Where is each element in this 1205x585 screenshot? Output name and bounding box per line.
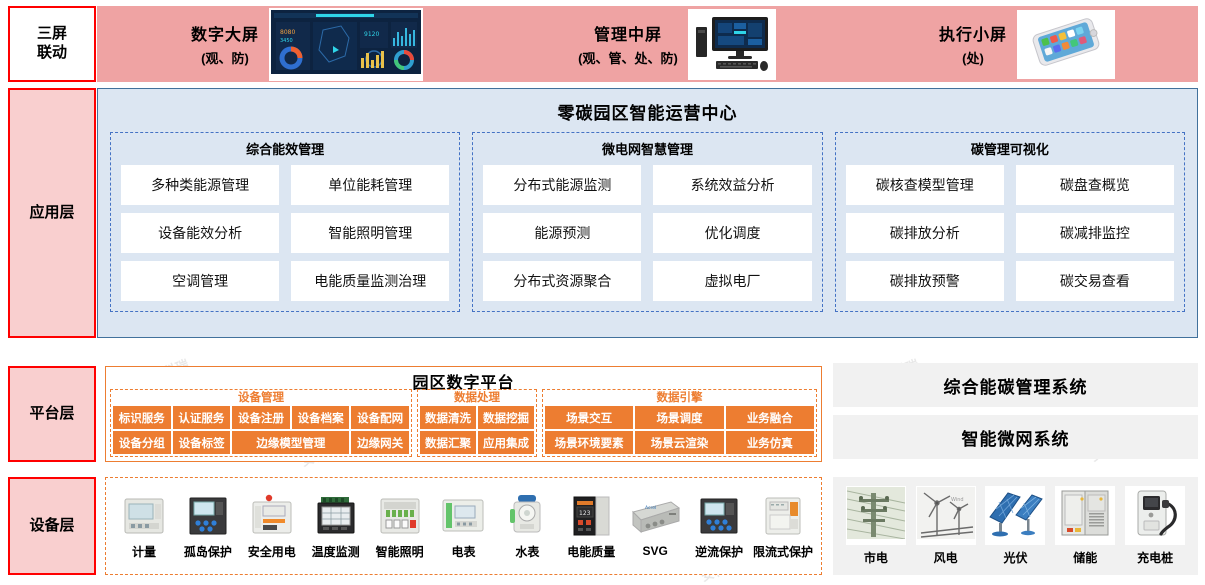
- electric-meter-icon: [438, 493, 488, 539]
- app-cell[interactable]: 优化调度: [653, 213, 811, 253]
- platform-row: 设备分组 设备标签 边缘模型管理 边缘网关: [113, 431, 409, 454]
- app-cell[interactable]: 智能照明管理: [291, 213, 449, 253]
- source-item[interactable]: Wind 风电: [915, 486, 977, 566]
- screen-caption: 管理中屏 (观、管、处、防): [578, 21, 678, 67]
- source-item[interactable]: 市电: [845, 486, 907, 566]
- source-label: 风电: [934, 549, 958, 566]
- platform-group-title: 数据引擎: [545, 391, 814, 406]
- app-cell[interactable]: 碳盘查概览: [1016, 165, 1174, 205]
- app-cell[interactable]: 分布式资源聚合: [483, 261, 641, 301]
- protection-relay-icon: [183, 493, 233, 539]
- app-group-microgrid: 微电网智慧管理 分布式能源监测 系统效益分析 能源预测 优化调度 分布式资源聚合…: [472, 132, 822, 312]
- application-center-title: 零碳园区智能运营中心: [98, 89, 1197, 124]
- device-item[interactable]: 计量: [113, 493, 175, 560]
- platform-row: 数据清洗 数据挖掘: [420, 406, 534, 429]
- platform-chip[interactable]: 场景交互: [545, 406, 633, 429]
- rail-platform-layer: 平台层: [8, 366, 96, 462]
- source-label: 充电桩: [1137, 549, 1173, 566]
- device-label: 电能质量: [567, 543, 615, 560]
- application-groups: 综合能效管理 多种类能源管理 单位能耗管理 设备能效分析 智能照明管理 空调管理…: [98, 124, 1197, 322]
- smartphone-icon: [1017, 10, 1115, 79]
- system-box-carbon-energy[interactable]: 综合能碳管理系统: [833, 363, 1198, 407]
- source-label: 储能: [1073, 549, 1097, 566]
- source-label: 光伏: [1003, 549, 1027, 566]
- platform-group-data-engine: 数据引擎 场景交互 场景调度 业务融合 场景环境要素 场景云渲染 业务仿真: [542, 389, 817, 457]
- rail-label: 应用层: [29, 204, 74, 223]
- screen-caption: 执行小屏 (处): [939, 21, 1007, 67]
- reverse-flow-protection-icon: [694, 493, 744, 539]
- platform-chip[interactable]: 数据清洗: [420, 406, 476, 429]
- source-item[interactable]: 充电桩: [1124, 486, 1186, 566]
- application-layer-panel: 零碳园区智能运营中心 综合能效管理 多种类能源管理 单位能耗管理 设备能效分析 …: [97, 88, 1198, 338]
- platform-chip[interactable]: 标识服务: [113, 406, 171, 429]
- platform-chip[interactable]: 设备档案: [292, 406, 350, 429]
- source-item[interactable]: 储能: [1054, 486, 1116, 566]
- screen-subtitle: (观、防): [191, 48, 259, 67]
- energy-source-panel: 市电: [833, 477, 1198, 575]
- rail-label: 设备层: [29, 517, 74, 536]
- platform-chip[interactable]: 业务融合: [726, 406, 814, 429]
- platform-chip[interactable]: 业务仿真: [726, 431, 814, 454]
- screen-cell-big: 数字大屏 (观、防) 8080 3450 9120: [137, 8, 477, 81]
- platform-chip[interactable]: 认证服务: [173, 406, 231, 429]
- rail-three-screen-linkage: 三屏 联动: [8, 6, 96, 82]
- app-group-title: 微电网智慧管理: [483, 139, 811, 158]
- system-box-smart-microgrid[interactable]: 智能微网系统: [833, 415, 1198, 459]
- wind-turbine-icon: Wind: [916, 486, 976, 545]
- screen-title: 执行小屏: [939, 21, 1007, 45]
- platform-group-data-processing: 数据处理 数据清洗 数据挖掘 数据汇聚 应用集成: [417, 389, 537, 457]
- solar-panel-icon: [985, 486, 1045, 545]
- architecture-diagram: 安科瑞 安科瑞 安科瑞 安科瑞 安科瑞 安科瑞 安科瑞 安科瑞 安科瑞 安科瑞 …: [0, 0, 1205, 581]
- screen-cell-mid: 管理中屏 (观、管、处、防): [512, 9, 842, 80]
- platform-chip[interactable]: 边缘网关: [351, 431, 409, 454]
- app-group-grid: 碳核查模型管理 碳盘查概览 碳排放分析 碳减排监控 碳排放预警 碳交易查看: [846, 165, 1174, 301]
- screen-cell-small: 执行小屏 (处): [862, 10, 1192, 79]
- power-quality-device-icon: 123: [566, 493, 616, 539]
- device-layer-panel: 计量 孤岛保护 安全用电: [105, 477, 822, 575]
- device-label: 限流式保护: [753, 543, 813, 560]
- platform-group-rows: 数据清洗 数据挖掘 数据汇聚 应用集成: [420, 406, 534, 454]
- device-item[interactable]: 孤岛保护: [177, 493, 239, 560]
- svg-text:8080: 8080: [280, 29, 295, 36]
- app-cell[interactable]: 系统效益分析: [653, 165, 811, 205]
- app-cell[interactable]: 多种类能源管理: [121, 165, 279, 205]
- platform-chip[interactable]: 边缘模型管理: [232, 431, 349, 454]
- app-cell[interactable]: 碳交易查看: [1016, 261, 1174, 301]
- app-group-title: 碳管理可视化: [846, 139, 1174, 158]
- device-item[interactable]: 123 电能质量: [560, 493, 622, 560]
- app-cell[interactable]: 设备能效分析: [121, 213, 279, 253]
- app-cell[interactable]: 单位能耗管理: [291, 165, 449, 205]
- desktop-monitor-icon: [688, 9, 776, 80]
- device-label: 计量: [132, 543, 156, 560]
- dashboard-bigscreen-icon: 8080 3450 9120: [269, 8, 423, 81]
- device-item[interactable]: 逆流保护: [688, 493, 750, 560]
- platform-chip[interactable]: 设备标签: [173, 431, 231, 454]
- three-screen-band: 数字大屏 (观、防) 8080 3450 9120: [97, 6, 1198, 82]
- device-item[interactable]: 安全用电: [241, 493, 303, 560]
- platform-chip[interactable]: 数据汇聚: [420, 431, 476, 454]
- platform-row: 场景环境要素 场景云渲染 业务仿真: [545, 431, 814, 454]
- platform-chip[interactable]: 设备配网: [351, 406, 409, 429]
- lighting-controller-icon: [375, 493, 425, 539]
- utility-grid-icon: [846, 486, 906, 545]
- platform-group-rows: 场景交互 场景调度 业务融合 场景环境要素 场景云渲染 业务仿真: [545, 406, 814, 454]
- platform-chip[interactable]: 场景云渲染: [635, 431, 723, 454]
- app-cell[interactable]: 碳排放预警: [846, 261, 1004, 301]
- device-item[interactable]: 电表: [432, 493, 494, 560]
- energy-storage-icon: [1055, 486, 1115, 545]
- system-box-label: 综合能碳管理系统: [944, 373, 1088, 398]
- device-label: 逆流保护: [695, 543, 743, 560]
- platform-chip[interactable]: 应用集成: [478, 431, 534, 454]
- app-cell[interactable]: 碳减排监控: [1016, 213, 1174, 253]
- app-cell[interactable]: 电能质量监测治理: [291, 261, 449, 301]
- platform-group-title: 数据处理: [420, 391, 534, 406]
- rail-label: 三屏 联动: [37, 25, 67, 63]
- platform-group-title: 设备管理: [113, 391, 409, 406]
- rail-application-layer: 应用层: [8, 88, 96, 338]
- screen-title: 管理中屏: [578, 21, 678, 45]
- app-group-grid: 分布式能源监测 系统效益分析 能源预测 优化调度 分布式资源聚合 虚拟电厂: [483, 165, 811, 301]
- device-label: 水表: [515, 543, 539, 560]
- app-cell[interactable]: 碳核查模型管理: [846, 165, 1004, 205]
- device-item[interactable]: 智能照明: [369, 493, 431, 560]
- device-label: 温度监测: [312, 543, 360, 560]
- screen-title: 数字大屏: [191, 21, 259, 45]
- platform-group-rows: 标识服务 认证服务 设备注册 设备档案 设备配网 设备分组 设备标签 边缘模型管…: [113, 406, 409, 454]
- device-label: SVG: [643, 544, 668, 558]
- app-group-energy-efficiency: 综合能效管理 多种类能源管理 单位能耗管理 设备能效分析 智能照明管理 空调管理…: [110, 132, 460, 312]
- device-item[interactable]: 限流式保护: [752, 493, 814, 560]
- platform-group-device-management: 设备管理 标识服务 认证服务 设备注册 设备档案 设备配网 设备分组 设备标签 …: [110, 389, 412, 457]
- svg-text:3450: 3450: [280, 38, 293, 44]
- din-rail-meter-icon: [119, 493, 169, 539]
- source-label: 市电: [864, 549, 888, 566]
- app-cell[interactable]: 分布式能源监测: [483, 165, 641, 205]
- water-meter-icon: [502, 493, 552, 539]
- svg-text:Acrel: Acrel: [645, 505, 656, 511]
- device-label: 电表: [451, 543, 475, 560]
- app-group-grid: 多种类能源管理 单位能耗管理 设备能效分析 智能照明管理 空调管理 电能质量监测…: [121, 165, 449, 301]
- app-cell[interactable]: 虚拟电厂: [653, 261, 811, 301]
- device-item[interactable]: Acrel SVG: [624, 494, 686, 558]
- device-item[interactable]: 温度监测: [305, 493, 367, 560]
- platform-row: 标识服务 认证服务 设备注册 设备档案 设备配网: [113, 406, 409, 429]
- ev-charger-icon: [1125, 486, 1185, 545]
- safety-electricity-device-icon: [247, 493, 297, 539]
- app-group-title: 综合能效管理: [121, 139, 449, 158]
- device-item[interactable]: 水表: [496, 493, 558, 560]
- system-box-label: 智能微网系统: [962, 425, 1070, 450]
- rail-device-layer: 设备层: [8, 477, 96, 575]
- device-label: 安全用电: [248, 543, 296, 560]
- svg-text:9120: 9120: [364, 31, 379, 38]
- screen-caption: 数字大屏 (观、防): [191, 21, 259, 67]
- temperature-monitor-icon: [311, 493, 361, 539]
- platform-chip[interactable]: 设备分组: [113, 431, 171, 454]
- platform-chip[interactable]: 场景环境要素: [545, 431, 633, 454]
- current-limit-protection-icon: [758, 493, 808, 539]
- device-label: 智能照明: [376, 543, 424, 560]
- svg-text:123: 123: [579, 510, 591, 517]
- svg-text:Wind: Wind: [951, 497, 964, 503]
- device-label: 孤岛保护: [184, 543, 232, 560]
- source-item[interactable]: 光伏: [984, 486, 1046, 566]
- platform-chip[interactable]: 设备注册: [232, 406, 290, 429]
- rail-label: 平台层: [29, 405, 74, 424]
- platform-layer-panel: 园区数字平台 设备管理 标识服务 认证服务 设备注册 设备档案 设备配网 设备分…: [105, 366, 822, 462]
- platform-chip[interactable]: 数据挖掘: [478, 406, 534, 429]
- platform-groups: 设备管理 标识服务 认证服务 设备注册 设备档案 设备配网 设备分组 设备标签 …: [110, 389, 817, 457]
- screen-subtitle: (处): [939, 48, 1007, 67]
- svg-cabinet-icon: Acrel: [627, 494, 683, 540]
- app-group-carbon: 碳管理可视化 碳核查模型管理 碳盘查概览 碳排放分析 碳减排监控 碳排放预警 碳…: [835, 132, 1185, 312]
- screen-subtitle: (观、管、处、防): [578, 48, 678, 67]
- platform-chip[interactable]: 场景调度: [635, 406, 723, 429]
- app-cell[interactable]: 碳排放分析: [846, 213, 1004, 253]
- platform-row: 数据汇聚 应用集成: [420, 431, 534, 454]
- platform-row: 场景交互 场景调度 业务融合: [545, 406, 814, 429]
- app-cell[interactable]: 空调管理: [121, 261, 279, 301]
- app-cell[interactable]: 能源预测: [483, 213, 641, 253]
